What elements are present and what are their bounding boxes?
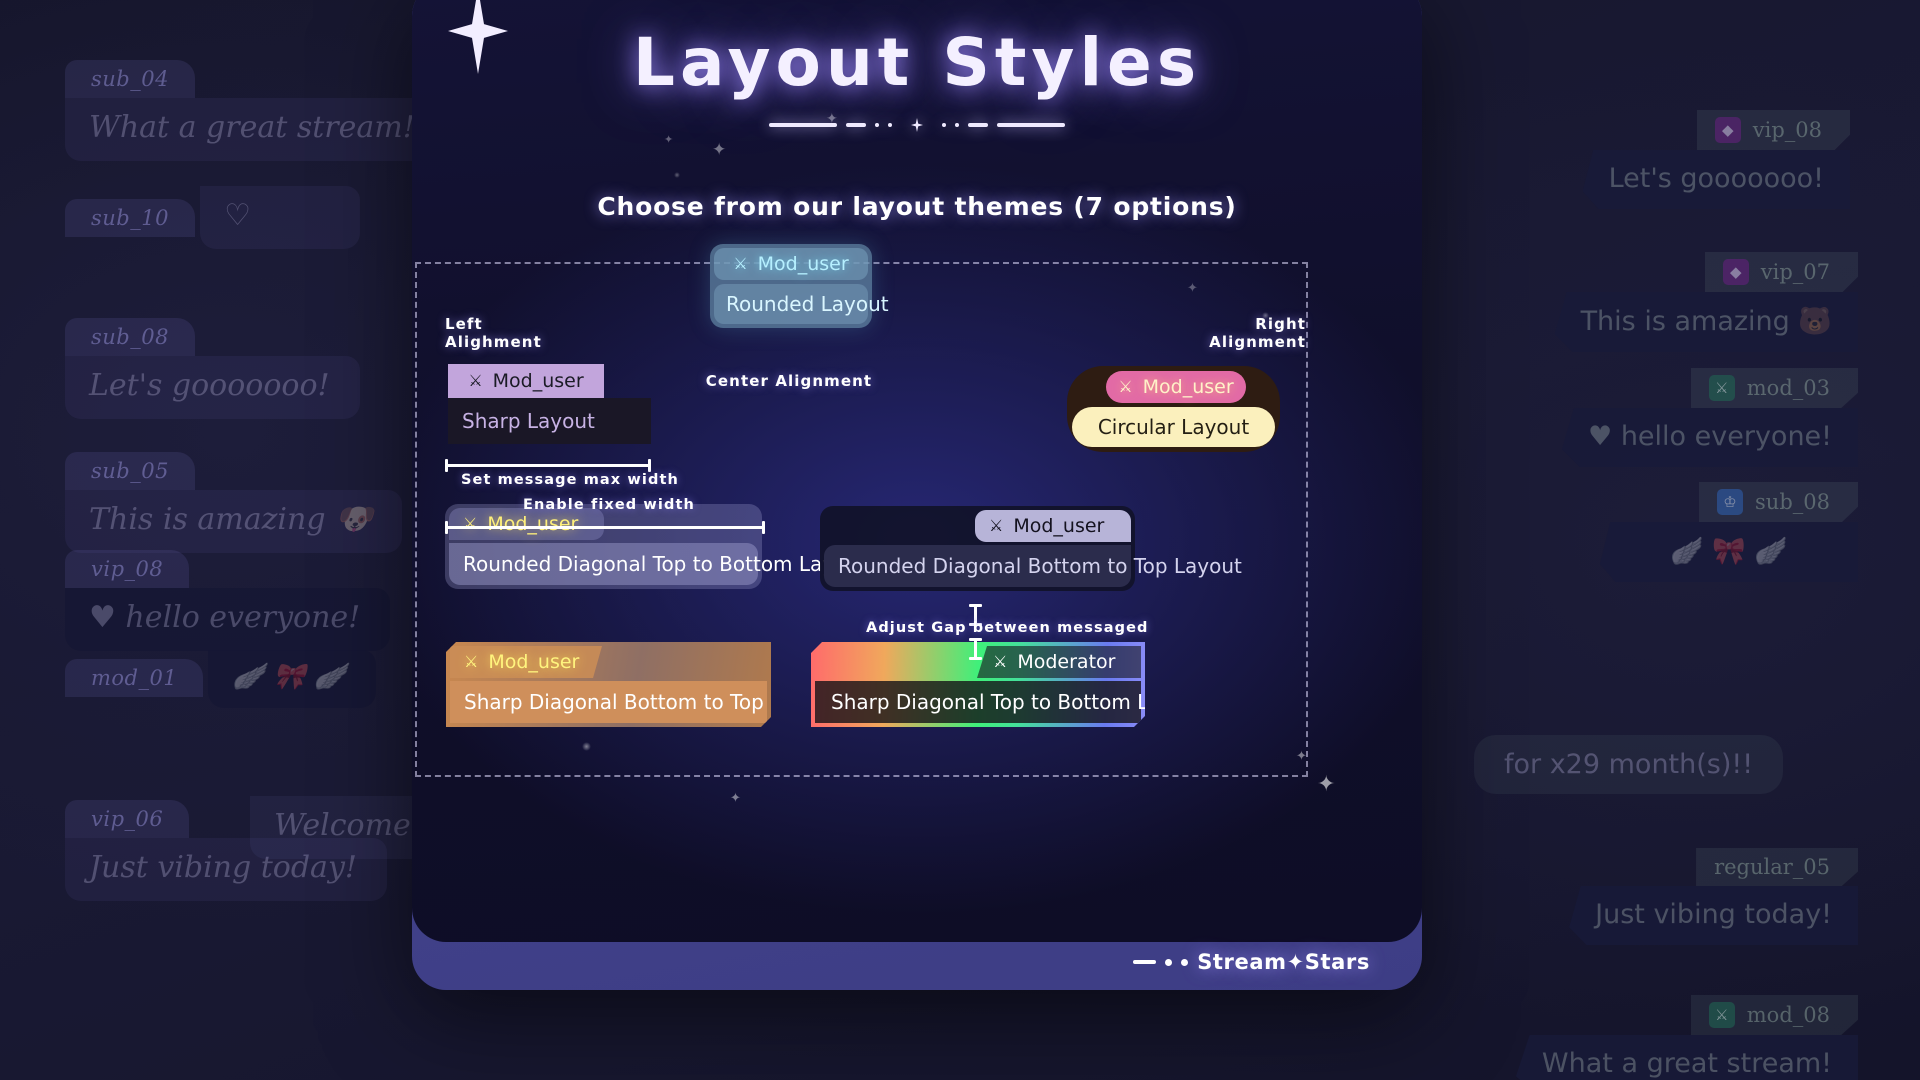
bg-username: ⚔ mod_03 <box>1691 368 1858 408</box>
sparkle-icon: ✦ <box>1317 774 1335 796</box>
brand-bar <box>1133 960 1156 964</box>
list-item: ◆ vip_08 Let's gooooooo! <box>1480 110 1850 209</box>
username-label: Mod_user <box>488 651 579 673</box>
bg-message: ♥ hello everyone! <box>1562 408 1858 467</box>
page-subtitle: Choose from our layout themes (7 options… <box>412 192 1422 221</box>
bg-username-label: mod_08 <box>1747 1003 1830 1027</box>
bg-message: What a great stream! <box>65 98 445 161</box>
bg-username-label: vip_07 <box>1761 260 1830 284</box>
screenshot-root: sub_04 What a great stream! sub_10 ♡ sub… <box>0 0 1920 1080</box>
bg-username-label: vip_08 <box>1753 118 1822 142</box>
background-chat-right: ◆ vip_08 Let's gooooooo! ◆ vip_07 This i… <box>1480 0 1900 1080</box>
fixed-width-label: Enable fixed width <box>523 497 695 513</box>
caption-center-alignment: Center Alignment <box>669 373 909 391</box>
sword-icon: ⚔ <box>1118 379 1132 395</box>
bg-sub-banner: for x29 month(s)!! <box>1474 735 1783 794</box>
page-title: Layout Styles <box>412 24 1422 101</box>
bg-username: ◆ vip_08 <box>1697 110 1850 150</box>
sword-icon: ⚔ <box>733 256 747 272</box>
sword-icon: ⚔ <box>989 518 1003 534</box>
message-text: Rounded Layout <box>714 284 868 324</box>
bg-message: This is amazing 🐶 <box>65 490 402 553</box>
bg-username-label: mod_03 <box>1747 376 1830 400</box>
layout-preview-frame: Left Alighment Center Alignment Right Al… <box>415 262 1308 777</box>
gem-icon: ◆ <box>1715 117 1741 143</box>
divider-bar <box>846 123 866 127</box>
divider-dot <box>955 123 959 127</box>
layout-card-rounded-diagonal-top-bottom[interactable]: ⚔ Mod_user Rounded Diagonal Top to Botto… <box>445 504 762 589</box>
title-divider <box>412 118 1422 132</box>
username-label: Mod_user <box>493 370 584 392</box>
layout-styles-panel: ✦ ✦ ✦ ✦ ✦ ✦ ✦ Layout Styles Choose from <box>412 0 1422 990</box>
list-item: ⚔ mod_08 What a great stream! <box>1480 995 1858 1080</box>
bg-username: sub_05 <box>65 452 195 490</box>
sword-icon: ⚔ <box>468 373 482 389</box>
list-item: ♔ sub_08 🪽 🎀 🪽 <box>1480 482 1858 582</box>
bg-username-label: sub_08 <box>1755 490 1830 514</box>
username-row: ⚔ Mod_user <box>450 646 602 678</box>
divider-bar <box>769 123 837 127</box>
bg-username: ⚔ mod_08 <box>1691 995 1858 1035</box>
divider-dot <box>875 123 879 127</box>
bg-username-label: regular_05 <box>1714 855 1830 879</box>
divider-dot <box>942 123 946 127</box>
layout-card-circular[interactable]: ⚔ Mod_user Circular Layout <box>1067 366 1280 452</box>
bg-message: Let's gooooooo! <box>65 356 360 419</box>
bg-message: ♡ <box>200 186 360 249</box>
bg-message: What a great stream! <box>1516 1035 1858 1080</box>
list-item: regular_05 Just vibing today! <box>1480 848 1858 945</box>
sparkle-icon: ✦ <box>730 792 741 805</box>
layout-card-sharp-diagonal-bottom-top[interactable]: ⚔ Mod_user Sharp Diagonal Bottom to Top … <box>446 642 771 727</box>
brand-logo: Stream✦Stars <box>1133 950 1370 974</box>
username-row: ⚔ Mod_user <box>975 510 1131 542</box>
sword-icon: ⚔ <box>993 654 1007 670</box>
bg-username: sub_04 <box>65 60 195 98</box>
sparkle-icon: ✦ <box>664 134 673 145</box>
gap-measure-bar-bottom <box>974 638 977 660</box>
username-label: Mod_user <box>758 253 849 275</box>
max-width-label: Set message max width <box>461 472 679 488</box>
layout-card-rounded-diagonal-bottom-top[interactable]: ⚔ Mod_user Rounded Diagonal Bottom to To… <box>820 506 1135 591</box>
username-label: Mod_user <box>1143 376 1234 398</box>
message-text: Rounded Diagonal Top to Bottom Layout <box>449 543 758 585</box>
layout-card-sharp-diagonal-top-bottom[interactable]: ⚔ Moderator Sharp Diagonal Top to Bottom… <box>811 642 1145 727</box>
brand-dot <box>1181 959 1188 966</box>
caption-right-alignment: Right Alignment <box>1146 316 1306 351</box>
brand-dot <box>1165 959 1172 966</box>
gap-label: Adjust Gap between messaged <box>866 620 1148 636</box>
bg-username: ◆ vip_07 <box>1705 252 1858 292</box>
bg-username: vip_08 <box>65 550 189 588</box>
username-label: Moderator <box>1017 651 1115 673</box>
username-label: Mod_user <box>1013 515 1104 537</box>
sparkle-icon: ✦ <box>712 142 726 159</box>
list-item: mod_01 🪽 🎀 🪽 <box>65 650 376 708</box>
bg-username: regular_05 <box>1696 848 1858 886</box>
bg-username: vip_06 <box>65 800 189 838</box>
message-text: Sharp Diagonal Top to Bottom Layout <box>815 681 1141 723</box>
divider-sparkle-icon <box>911 118 923 132</box>
sparkle-dot-icon <box>674 172 680 178</box>
panel-inner-surface: ✦ ✦ ✦ ✦ ✦ ✦ ✦ Layout Styles Choose from <box>412 0 1422 942</box>
list-item: sub_10 ♡ <box>65 186 360 249</box>
layout-card-sharp[interactable]: ⚔ Mod_user Sharp Layout <box>448 364 651 444</box>
bg-username: mod_01 <box>65 659 203 697</box>
list-item: ⚔ mod_03 ♥ hello everyone! <box>1480 368 1858 467</box>
divider-bar <box>968 123 988 127</box>
max-width-measure-bar <box>445 464 651 467</box>
bg-message: 🪽 🎀 🪽 <box>1600 522 1858 582</box>
brand-label: Stream✦Stars <box>1197 950 1370 974</box>
bg-username: ♔ sub_08 <box>1699 482 1858 522</box>
bg-username: sub_10 <box>65 199 195 237</box>
sword-icon: ⚔ <box>463 516 477 532</box>
list-item: ◆ vip_07 This is amazing 🐻 <box>1480 252 1858 352</box>
sword-icon: ⚔ <box>1709 1002 1735 1028</box>
bg-message: ♥ hello everyone! <box>65 588 390 651</box>
bg-message: This is amazing 🐻 <box>1555 292 1858 352</box>
divider-dot <box>888 123 892 127</box>
message-text: Sharp Diagonal Bottom to Top Layout <box>450 681 767 723</box>
message-text: Circular Layout <box>1072 407 1275 447</box>
username-row: ⚔ Mod_user <box>448 364 604 398</box>
fixed-width-measure-bar <box>445 526 765 529</box>
username-row: ⚔ Moderator <box>977 646 1141 678</box>
crown-icon: ♔ <box>1717 489 1743 515</box>
message-text: Sharp Layout <box>448 398 651 444</box>
username-label: Mod_user <box>487 513 578 535</box>
caption-left-alignment: Left Alighment <box>445 316 542 351</box>
layout-card-rounded[interactable]: ⚔ Mod_user Rounded Layout <box>710 244 872 328</box>
gem-icon: ◆ <box>1723 259 1749 285</box>
sword-icon: ⚔ <box>464 654 478 670</box>
message-text: Rounded Diagonal Bottom to Top Layout <box>824 545 1131 587</box>
username-row: ⚔ Mod_user <box>1106 371 1246 403</box>
divider-bar <box>997 123 1065 127</box>
bg-message: 🪽 🎀 🪽 <box>208 650 376 708</box>
sword-icon: ⚔ <box>1709 375 1735 401</box>
bg-username: sub_08 <box>65 318 195 356</box>
bg-message: Let's gooooooo! <box>1583 150 1850 209</box>
username-row: ⚔ Mod_user <box>714 248 868 280</box>
bg-message: Just vibing today! <box>1569 886 1858 945</box>
